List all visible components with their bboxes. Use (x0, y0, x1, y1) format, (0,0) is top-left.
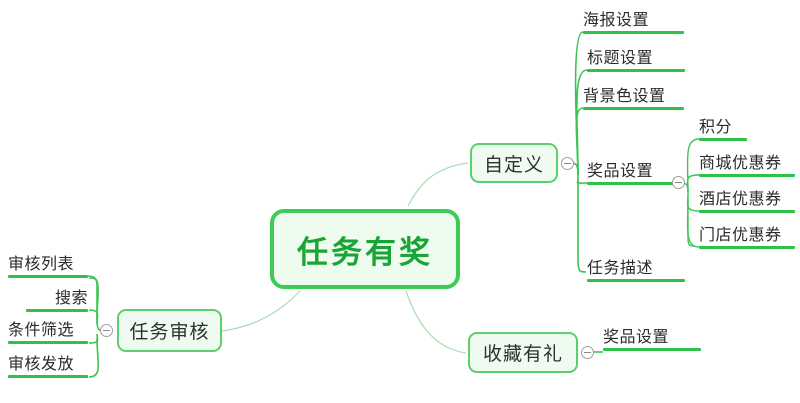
leaf-review-grant-label: 审核发放 (8, 354, 88, 373)
leaf-condition-filter-label: 条件筛选 (8, 320, 88, 339)
leaf-underline (699, 246, 795, 249)
leaf-task-description-label: 任务描述 (587, 258, 685, 277)
leaf-search[interactable]: 搜索 (26, 288, 88, 312)
leaf-favorite-prize-settings-label: 奖品设置 (603, 327, 701, 346)
leaf-underline (699, 174, 795, 177)
branch-node-favorite-gift-label: 收藏有礼 (483, 339, 563, 366)
edge-custom-to-prize (577, 180, 587, 183)
leaf-underline (587, 69, 685, 72)
leaf-hotel-coupon-label: 酒店优惠券 (699, 189, 795, 208)
leaf-underline (8, 375, 88, 378)
collapse-toggle-favorite-gift[interactable] (581, 346, 594, 359)
leaf-store-coupon[interactable]: 门店优惠券 (699, 225, 795, 249)
edge-root-to-review (222, 291, 300, 331)
leaf-points[interactable]: 积分 (699, 117, 747, 141)
leaf-review-list-label: 审核列表 (8, 254, 88, 273)
leaf-favorite-prize-settings[interactable]: 奖品设置 (603, 327, 701, 351)
leaf-prize-settings-label: 奖品设置 (587, 161, 685, 180)
leaf-background-color-settings-label: 背景色设置 (583, 86, 684, 105)
edge-prize-to-store (688, 200, 699, 247)
edge-custom-to-poster (576, 32, 583, 175)
leaf-underline (699, 210, 795, 213)
edge-root-to-custom (408, 163, 468, 206)
leaf-underline (8, 341, 88, 344)
edge-review-to-filter (89, 334, 98, 343)
edge-prize-to-mall (688, 175, 699, 192)
leaf-underline (583, 31, 684, 34)
edge-prize-to-points (688, 139, 699, 192)
branch-node-task-review-label: 任务审核 (129, 317, 209, 344)
leaf-poster-settings[interactable]: 海报设置 (583, 10, 684, 34)
leaf-condition-filter[interactable]: 条件筛选 (8, 320, 88, 344)
collapse-toggle-custom[interactable] (561, 157, 574, 170)
leaf-mall-coupon-label: 商城优惠券 (699, 153, 795, 172)
edge-prize-spine (679, 183, 694, 246)
leaf-underline (583, 107, 684, 110)
leaf-title-settings[interactable]: 标题设置 (587, 48, 685, 72)
edge-prize-to-hotel (688, 196, 699, 211)
leaf-review-list[interactable]: 审核列表 (8, 254, 88, 278)
leaf-prize-settings[interactable]: 奖品设置 (587, 161, 685, 185)
leaf-underline (587, 279, 685, 282)
leaf-mall-coupon[interactable]: 商城优惠券 (699, 153, 795, 177)
leaf-title-settings-label: 标题设置 (587, 48, 685, 67)
branch-node-custom[interactable]: 自定义 (470, 143, 558, 183)
branch-node-task-review[interactable]: 任务审核 (117, 309, 222, 352)
mindmap-canvas: 任务有奖 自定义 海报设置 标题设置 背景色设置 奖品设置 积分 商城优惠券 酒… (0, 0, 800, 403)
edge-root-to-favorite (406, 291, 466, 353)
leaf-poster-settings-label: 海报设置 (583, 10, 684, 29)
leaf-underline (587, 182, 685, 185)
edge-review-spine (89, 278, 107, 331)
leaf-underline (26, 309, 88, 312)
collapse-toggle-prize-settings[interactable] (672, 176, 685, 189)
leaf-hotel-coupon[interactable]: 酒店优惠券 (699, 189, 795, 213)
leaf-store-coupon-label: 门店优惠券 (699, 225, 795, 244)
leaf-underline (8, 275, 88, 278)
leaf-points-label: 积分 (699, 117, 747, 136)
leaf-search-label: 搜索 (26, 288, 88, 307)
edge-review-to-grant (89, 338, 98, 377)
edge-review-to-list (88, 276, 98, 320)
leaf-underline (699, 138, 747, 141)
root-node[interactable]: 任务有奖 (270, 209, 460, 289)
leaf-review-grant[interactable]: 审核发放 (8, 354, 88, 378)
branch-node-favorite-gift[interactable]: 收藏有礼 (468, 332, 578, 373)
root-node-label: 任务有奖 (297, 227, 433, 272)
branch-node-custom-label: 自定义 (484, 150, 544, 177)
edge-custom-to-bg (576, 108, 583, 175)
leaf-underline (603, 348, 701, 351)
collapse-toggle-task-review[interactable] (100, 324, 113, 337)
edge-custom-spine (568, 163, 586, 272)
edge-review-to-search (89, 310, 98, 324)
leaf-task-description[interactable]: 任务描述 (587, 258, 685, 282)
leaf-background-color-settings[interactable]: 背景色设置 (583, 86, 684, 110)
